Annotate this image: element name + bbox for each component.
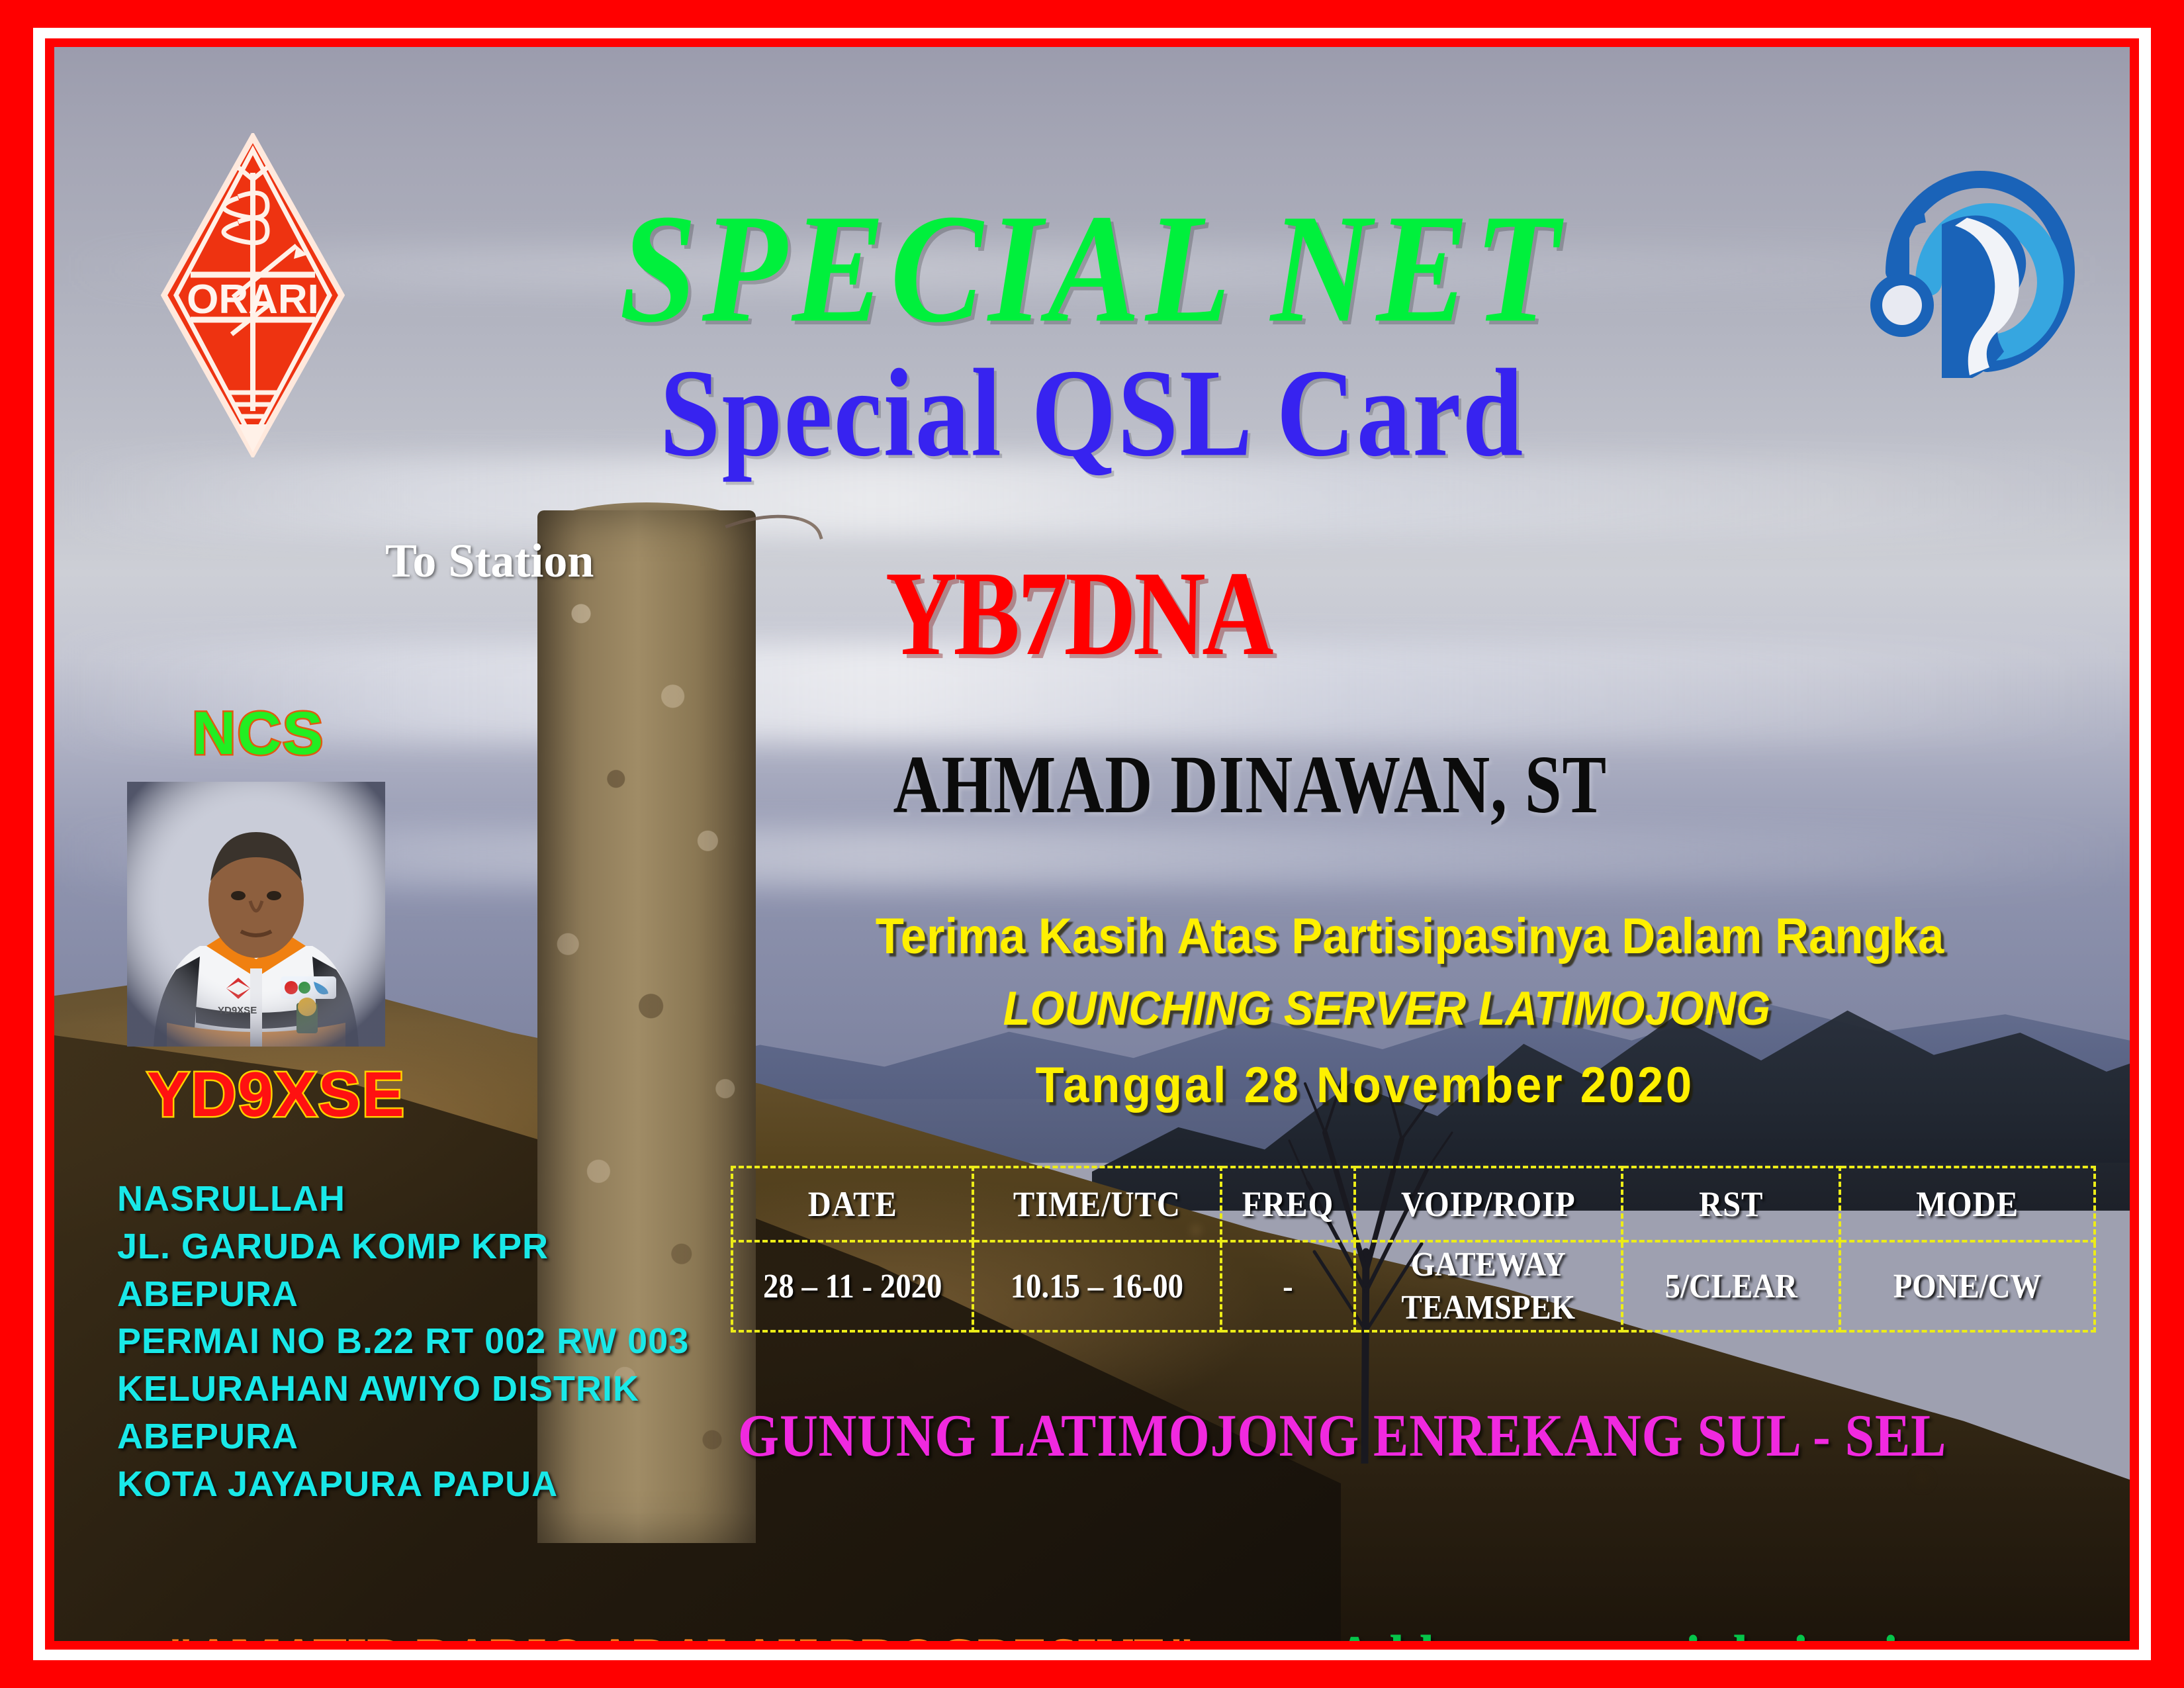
- footer-web-address: Address : amatir.latimojong.com: [1335, 1620, 2092, 1641]
- address-line: ABEPURA: [117, 1413, 689, 1461]
- col-header-freq: FREQ: [1228, 1167, 1348, 1241]
- avatar: YD9XSE: [127, 782, 385, 1047]
- cell-freq: -: [1228, 1241, 1348, 1331]
- address-block: NASRULLAH JL. GARUDA KOMP KPR ABEPURA PE…: [117, 1176, 689, 1509]
- table-row: 28 – 11 - 2020 10.15 – 16-00 - GATEWAY T…: [732, 1241, 2095, 1331]
- col-header-date: DATE: [744, 1167, 961, 1241]
- footer-motto: "AMATIR RADIO ADALAH PROGRESIVE": [167, 1624, 1196, 1641]
- address-line: ABEPURA: [117, 1271, 689, 1319]
- cell-voip-line2: TEAMSPEK: [1369, 1286, 1608, 1329]
- cell-voip-line1: GATEWAY: [1369, 1243, 1608, 1286]
- address-line: JL. GARUDA KOMP KPR: [117, 1223, 689, 1271]
- to-station-label: To Station: [385, 534, 594, 588]
- log-table: DATE TIME/UTC FREQ VOIP/ROIP RST MODE 28…: [731, 1166, 2096, 1333]
- col-header-rst: RST: [1633, 1167, 1829, 1241]
- operator-name: AHMAD DINAWAN, ST: [893, 737, 1607, 832]
- background-photo: ORARI: [54, 47, 2130, 1641]
- qsl-card: ORARI: [0, 0, 2184, 1688]
- cell-rst: 5/CLEAR: [1633, 1241, 1829, 1331]
- cell-mode: PONE/CW: [1852, 1241, 2082, 1331]
- location-line: GUNUNG LATIMOJONG ENREKANG SUL - SEL: [738, 1401, 1946, 1471]
- address-line: KOTA JAYAPURA PAPUA: [117, 1461, 689, 1509]
- col-header-time: TIME/UTC: [985, 1167, 1208, 1241]
- event-date-line: Tanggal 28 November 2020: [1035, 1056, 1694, 1114]
- thanks-line: Terima Kasih Atas Partisipasinya Dalam R…: [876, 908, 1944, 965]
- address-line: NASRULLAH: [117, 1176, 689, 1223]
- cell-voip-roip: GATEWAY TEAMSPEK: [1368, 1241, 1608, 1331]
- col-header-voip-roip: VOIP/ROIP: [1368, 1167, 1608, 1241]
- ncs-callsign: YD9XSE: [147, 1058, 406, 1131]
- card-white-frame: ORARI: [33, 28, 2151, 1660]
- ncs-label: NCS: [192, 699, 324, 769]
- card-inner-red-frame: ORARI: [45, 38, 2139, 1650]
- page-title: SPECIAL NET: [54, 191, 2130, 346]
- address-line: PERMAI NO B.22 RT 002 RW 003: [117, 1318, 689, 1366]
- table-header-row: DATE TIME/UTC FREQ VOIP/ROIP RST MODE: [732, 1167, 2095, 1241]
- page-subtitle: Special QSL Card: [54, 350, 2130, 476]
- cell-time: 10.15 – 16-00: [985, 1241, 1208, 1331]
- cell-date: 28 – 11 - 2020: [744, 1241, 961, 1331]
- station-callsign: YB7DNA: [884, 544, 1272, 683]
- col-header-mode: MODE: [1852, 1167, 2082, 1241]
- address-line: KELURAHAN AWIYO DISTRIK: [117, 1366, 689, 1413]
- occasion-line: LOUNCHING SERVER LATIMOJONG: [1003, 982, 1770, 1036]
